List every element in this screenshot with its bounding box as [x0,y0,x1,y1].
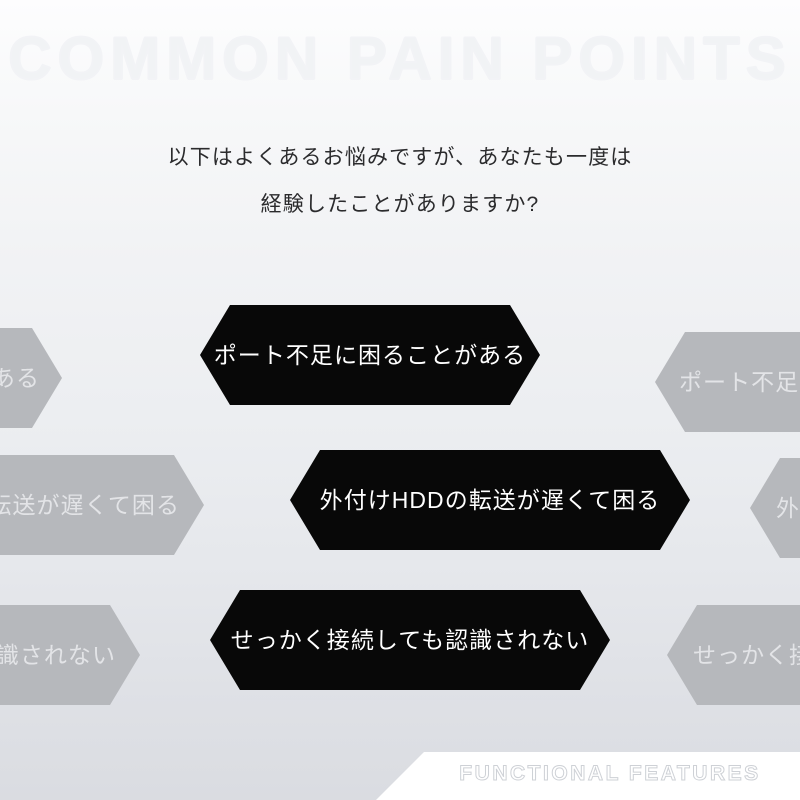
pain-point-badge-not-detected: せっかく接続しても認識されない [210,590,610,690]
ghost-badge-left-2-label: 外付けHDDの転送が遅くて困る [0,494,204,517]
subtitle: 以下はよくあるお悩みですが、あなたも一度は 経験したことがありますか? [0,134,800,228]
pain-point-badge-ports-label: ポート不足に困ることがある [200,344,540,367]
page-title: COMMON PAIN POINTS [0,26,800,92]
ghost-badge-left-2: 外付けHDDの転送が遅くて困る [0,455,204,555]
subtitle-line-2: 経験したことがありますか? [0,181,800,228]
ghost-badge-left-3-label: せっかく接続しても認識されない [0,644,140,667]
pain-point-badge-not-detected-label: せっかく接続しても認識されない [210,629,610,652]
pain-point-badge-ports: ポート不足に困ることがある [200,305,540,405]
ghost-badge-right-2: 外付けHDDの転送が遅くて困る [750,458,800,558]
pain-point-badge-hdd-speed: 外付けHDDの転送が遅くて困る [290,450,690,550]
subtitle-line-1: 以下はよくあるお悩みですが、あなたも一度は [0,134,800,181]
ghost-badge-right-1: ポート不足に困ることがある [655,332,800,432]
pain-point-badge-hdd-speed-label: 外付けHDDの転送が遅くて困る [290,489,690,512]
ghost-badge-left-3: せっかく接続しても認識されない [0,605,140,705]
page-title-text: COMMON PAIN POINTS [8,25,792,92]
ghost-badge-right-3: せっかく接続しても認識されない [667,605,800,705]
ghost-badge-left-1-label: ポート不足に困ることがある [0,367,62,390]
ghost-badge-right-1-label: ポート不足に困ることがある [655,371,800,394]
ghost-badge-right-2-label: 外付けHDDの転送が遅くて困る [750,497,800,520]
bottom-section-title: FUNCTIONAL FEATURES [420,760,800,788]
ghost-badge-left-1: ポート不足に困ることがある [0,328,62,428]
ghost-badge-right-3-label: せっかく接続しても認識されない [667,644,800,667]
slide-canvas: COMMON PAIN POINTS 以下はよくあるお悩みですが、あなたも一度は… [0,0,800,800]
